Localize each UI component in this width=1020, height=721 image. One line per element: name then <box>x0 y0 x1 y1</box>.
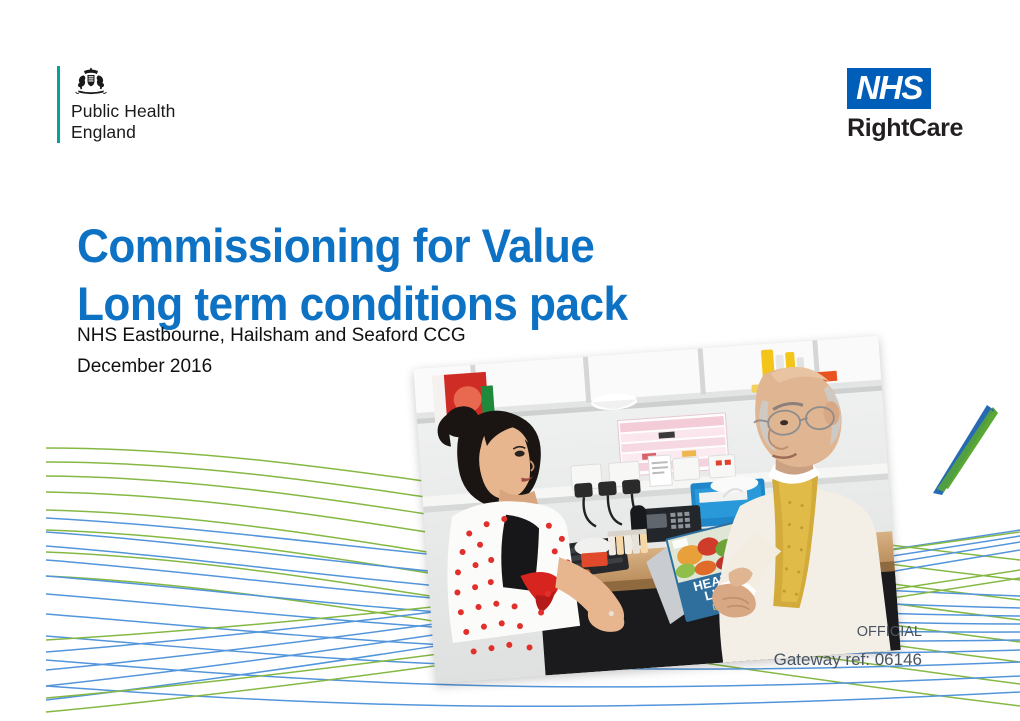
royal-crest-icon <box>71 66 111 98</box>
title-line-1: Commissioning for Value <box>77 217 627 275</box>
organisation-name: NHS Eastbourne, Hailsham and Seaford CCG <box>77 320 466 351</box>
rightcare-wordmark: RightCare <box>847 114 963 142</box>
nhs-wordmark: NHS <box>847 68 931 109</box>
title-slide: Public Health England NHS RightCare Comm… <box>0 0 1020 721</box>
subtitle-block: NHS Eastbourne, Hailsham and Seaford CCG… <box>77 320 466 382</box>
public-health-england-logo: Public Health England <box>57 66 175 143</box>
phe-logo-line1: Public Health <box>71 101 175 122</box>
footer-block: OFFICIAL Gateway ref: 06146 <box>774 619 922 673</box>
publication-date: December 2016 <box>77 351 466 382</box>
phe-logo-line2: England <box>71 122 175 143</box>
gateway-reference: Gateway ref: 06146 <box>774 646 922 673</box>
nhs-rightcare-logo: NHS RightCare <box>847 68 963 142</box>
official-marking: OFFICIAL <box>774 619 922 646</box>
page-title: Commissioning for Value Long term condit… <box>77 217 627 333</box>
phe-accent-rule <box>57 66 60 143</box>
